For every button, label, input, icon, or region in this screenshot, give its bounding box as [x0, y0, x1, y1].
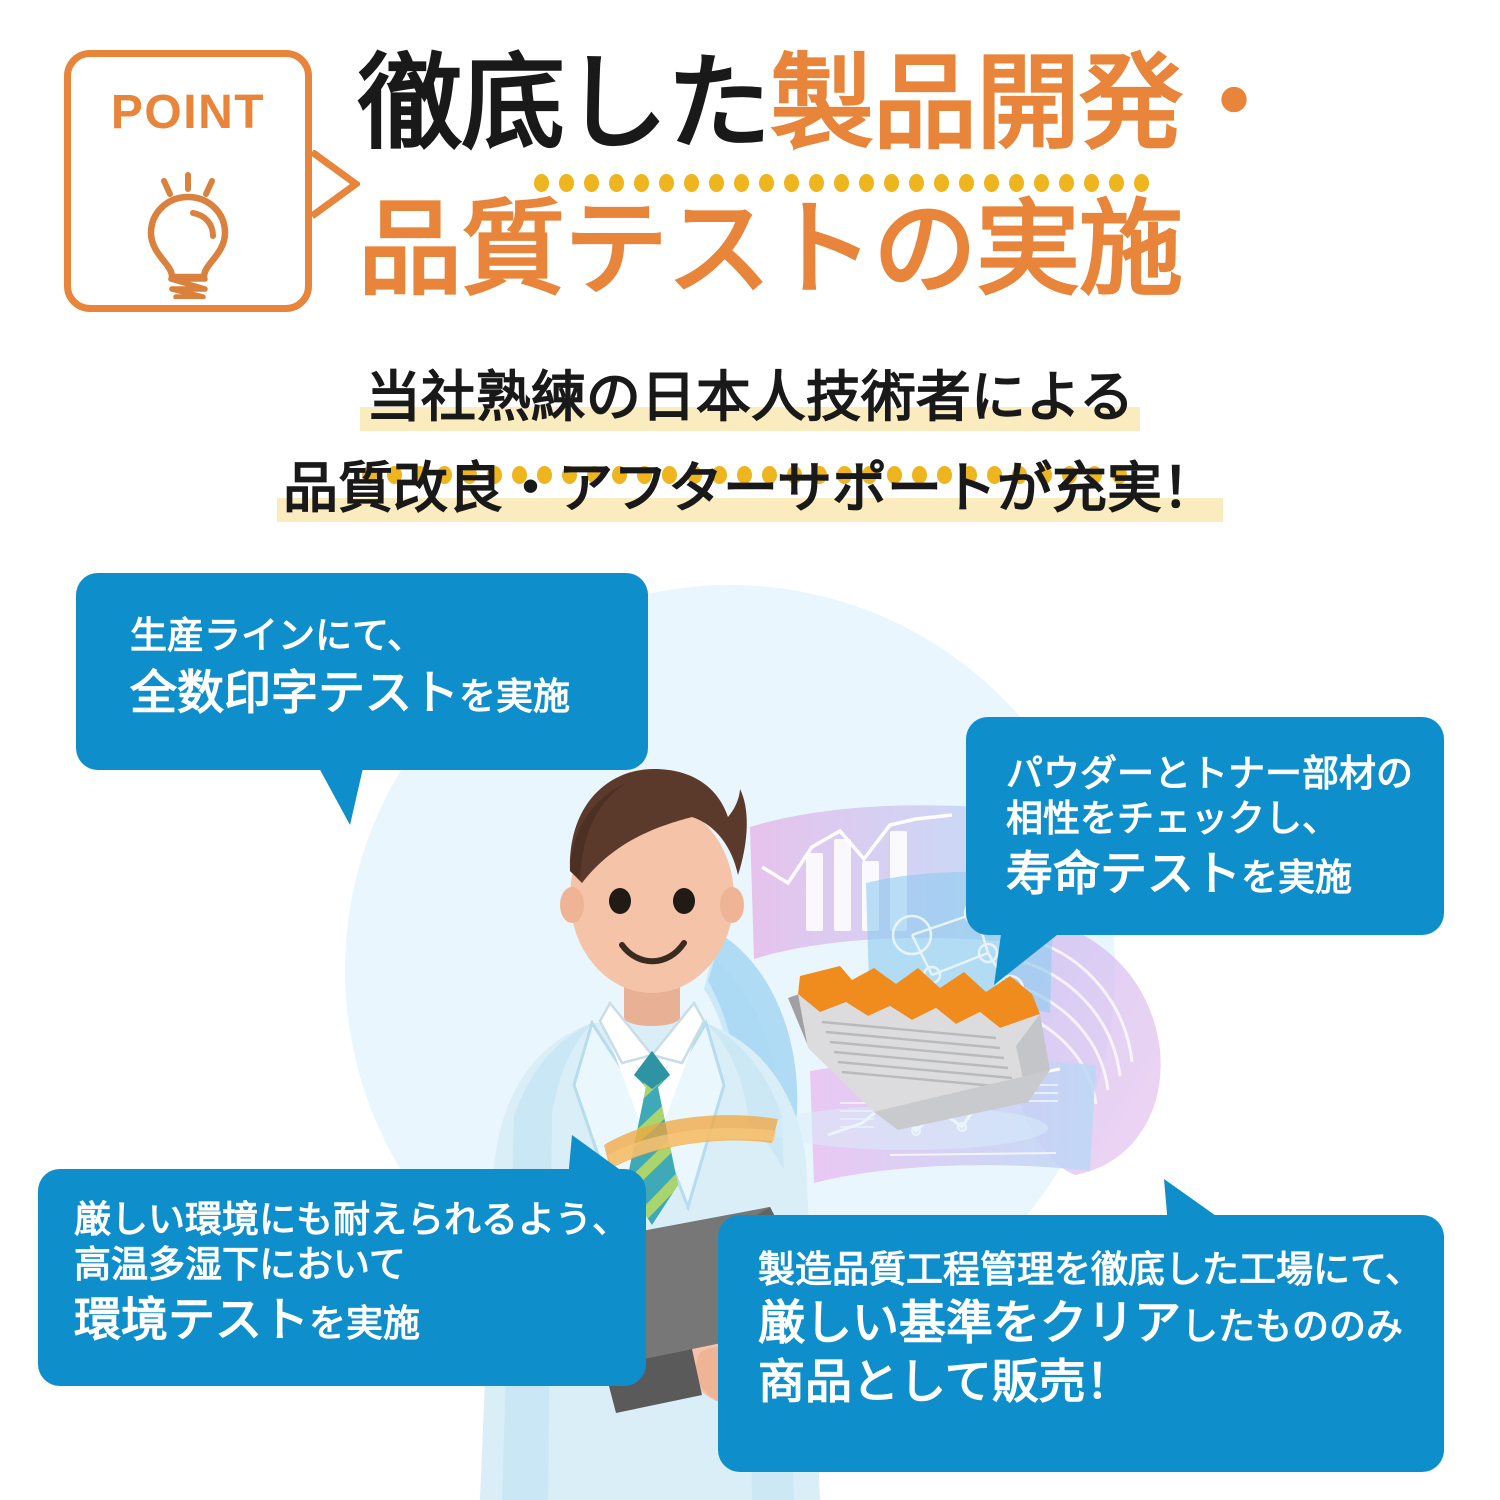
underline-dot [1009, 174, 1024, 192]
headline-dotted-underline-1 [534, 174, 1149, 192]
underline-dot [734, 174, 749, 192]
underline-dot [559, 174, 574, 192]
subtitle: 当社熟練の日本人技術者による 品質改良・アフターサポートが充実！ [0, 366, 1500, 526]
underline-dot [1059, 174, 1074, 192]
bubble2-line3: 寿命テストを実施 [1006, 845, 1444, 902]
bubble4-line3: 商品として販売！ [758, 1353, 1444, 1410]
bubble2-line2: 相性をチェックし、 [1006, 796, 1444, 841]
underline-dot [584, 174, 599, 192]
underline-dot [959, 174, 974, 192]
lightbulb-icon [123, 169, 253, 299]
bubble1-emphasis: 全数印字テスト [130, 666, 459, 719]
subtitle-row-1: 当社熟練の日本人技術者による [0, 366, 1500, 435]
underline-dot [859, 174, 874, 192]
bubble2-tail [992, 927, 1064, 987]
illustration-scene: 生産ラインにて、 全数印字テストを実施 パウダーとトナー部材の 相性をチェックし… [0, 555, 1500, 1500]
bubble3-suffix: を実施 [309, 1303, 420, 1344]
point-badge: POINT [64, 50, 312, 312]
infographic-canvas: 生産ラインにて、 全数印字テストを実施 パウダーとトナー部材の 相性をチェックし… [0, 0, 1500, 1500]
underline-dot [784, 174, 799, 192]
bubble4-suffix: したもののみ [1181, 1306, 1403, 1347]
headline-black-part: 徹底した [358, 46, 770, 162]
quality-standard-bubble[interactable]: 製造品質工程管理を徹底した工場にて、 厳しい基準をクリアしたもののみ 商品として… [718, 1215, 1444, 1472]
headline: 徹底した製品開発・ 品質テストの実施 [358, 52, 1358, 316]
underline-dot [709, 174, 724, 192]
bubble3-line3: 環境テストを実施 [74, 1291, 646, 1348]
bubble2-emphasis: 寿命テスト [1006, 847, 1241, 900]
underline-dot [1134, 174, 1149, 192]
headline-line-2: 品質テストの実施 [358, 198, 1358, 316]
point-badge-label: POINT [71, 89, 305, 137]
bubble1-line1: 生産ラインにて、 [130, 613, 648, 658]
underline-dot [684, 174, 699, 192]
bubble1-suffix: を実施 [459, 676, 570, 717]
point-badge-tail [310, 150, 360, 220]
underline-dot [634, 174, 649, 192]
underline-dot [609, 174, 624, 192]
underline-dot [1109, 174, 1124, 192]
bubble3-emphasis: 環境テスト [74, 1293, 309, 1346]
underline-dot [759, 174, 774, 192]
bubble1-line2: 全数印字テストを実施 [130, 664, 648, 721]
headline-orange-part-1: 製品開発・ [770, 46, 1285, 162]
bubble2-suffix: を実施 [1241, 857, 1352, 898]
underline-dot [1034, 174, 1049, 192]
underline-dot [1084, 174, 1099, 192]
bubble3-line1: 厳しい環境にも耐えられるよう、 [74, 1197, 646, 1242]
bubble4-emphasis-2: 商品として販売！ [758, 1355, 1133, 1408]
subtitle-row-2: 品質改良・アフターサポートが充実！ [0, 457, 1500, 526]
subtitle-line-2: 品質改良・アフターサポートが充実！ [277, 457, 1223, 526]
underline-dot [809, 174, 824, 192]
headline-orange-part-2: 品質テストの実施 [358, 192, 1182, 308]
underline-dot [659, 174, 674, 192]
bubble3-line2: 高温多湿下において [74, 1242, 646, 1287]
subtitle-line-1: 当社熟練の日本人技術者による [360, 366, 1140, 435]
print-test-bubble[interactable]: 生産ラインにて、 全数印字テストを実施 [76, 573, 648, 770]
underline-dot [884, 174, 899, 192]
underline-dot [834, 174, 849, 192]
bubble4-line2: 厳しい基準をクリアしたもののみ [758, 1294, 1444, 1351]
underline-dot [534, 174, 549, 192]
environment-test-bubble[interactable]: 厳しい環境にも耐えられるよう、 高温多湿下において 環境テストを実施 [38, 1169, 646, 1386]
life-test-bubble[interactable]: パウダーとトナー部材の 相性をチェックし、 寿命テストを実施 [966, 717, 1444, 935]
underline-dot [984, 174, 999, 192]
underline-dot [934, 174, 949, 192]
headline-line-1: 徹底した製品開発・ [358, 52, 1358, 170]
bubble2-line1: パウダーとトナー部材の [1006, 751, 1444, 796]
bubble4-line1: 製造品質工程管理を徹底した工場にて、 [758, 1247, 1444, 1292]
underline-dot [909, 174, 924, 192]
bubble4-emphasis-1: 厳しい基準をクリア [758, 1296, 1181, 1349]
